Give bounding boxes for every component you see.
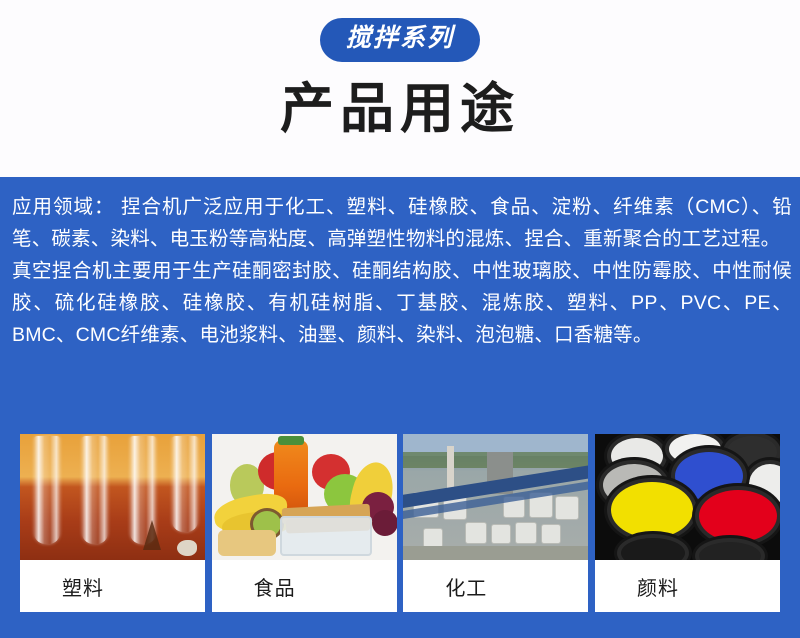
series-badge: 搅拌系列 [320,18,480,62]
application-card-plastic[interactable]: 塑料 [20,434,205,612]
description-paragraph-2: 真空捏合机主要用于生产硅酮密封胶、硅酮结构胶、中性玻璃胶、中性防霉胶、中性耐候胶… [12,255,792,351]
description-section: 应用领域： 捏合机广泛应用于化工、塑料、硅橡胶、食品、淀粉、纤维素（CMC）、铅… [0,177,800,638]
product-usage-page: 搅拌系列 产品用途 应用领域： 捏合机广泛应用于化工、塑料、硅橡胶、食品、淀粉、… [0,0,800,638]
application-card-label: 塑料 [20,560,205,612]
application-card-label: 化工 [403,560,588,612]
description-paragraph-1: 应用领域： 捏合机广泛应用于化工、塑料、硅橡胶、食品、淀粉、纤维素（CMC）、铅… [12,191,792,255]
food-fruit-lunchbox-photo [212,434,397,560]
application-card-food[interactable]: 食品 [212,434,397,612]
application-cards: 塑料 [20,434,780,612]
description-text-block: 应用领域： 捏合机广泛应用于化工、塑料、硅橡胶、食品、淀粉、纤维素（CMC）、铅… [12,191,792,351]
chemical-plant-photo [403,434,588,560]
page-header: 搅拌系列 产品用途 [0,0,800,177]
application-card-chemical[interactable]: 化工 [403,434,588,612]
application-card-label: 颜料 [595,560,780,612]
application-card-label: 食品 [212,560,397,612]
paint-cans-photo [595,434,780,560]
plastic-test-tubes-photo [20,434,205,560]
page-title: 产品用途 [280,78,520,140]
application-card-pigment[interactable]: 颜料 [595,434,780,612]
